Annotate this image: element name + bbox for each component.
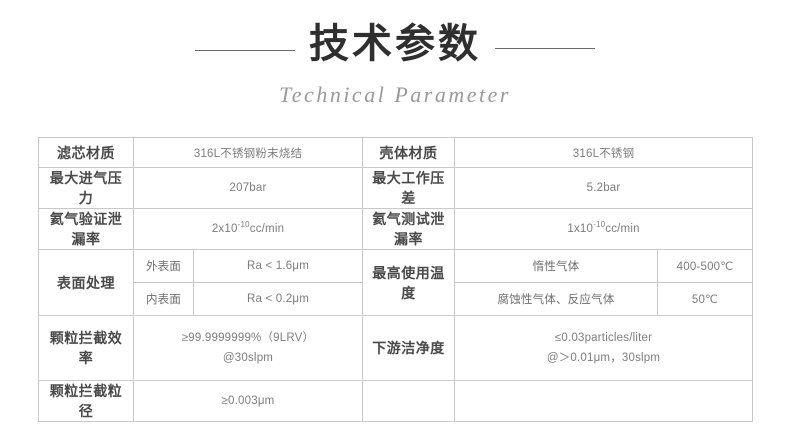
- cleanliness-line-1: ≤0.03particles/liter: [461, 328, 746, 348]
- row-label-helium-verify-leak-rate: 氦气验证泄漏率: [39, 209, 134, 250]
- row-label-max-working-pressure-diff: 最大工作压差: [363, 168, 455, 209]
- leak-rate-unit: cc/min: [605, 223, 639, 235]
- row-label-empty: [363, 381, 455, 422]
- row-value-max-working-pressure-diff: 5.2bar: [455, 168, 753, 209]
- efficiency-line-1: ≥99.9999999%（9LRV）: [140, 328, 356, 348]
- title-rule-left: [195, 50, 295, 51]
- title-rule-right: [495, 48, 595, 49]
- row-label-helium-test-leak-rate: 氦气测试泄漏率: [363, 209, 455, 250]
- surface-inner-name: 内表面: [134, 283, 194, 316]
- surface-outer-value: Ra < 1.6μm: [194, 250, 363, 283]
- table-row: 氦气验证泄漏率 2x10-10cc/min 氦气测试泄漏率 1x10-10cc/…: [39, 209, 753, 250]
- table-row: 颗粒拦截效率 ≥99.9999999%（9LRV） @30slpm 下游洁净度 …: [39, 316, 753, 381]
- table-row: 最大进气压力 207bar 最大工作压差 5.2bar: [39, 168, 753, 209]
- row-value-max-inlet-pressure: 207bar: [134, 168, 363, 209]
- row-value-helium-test-leak-rate: 1x10-10cc/min: [455, 209, 753, 250]
- row-label-max-inlet-pressure: 最大进气压力: [39, 168, 134, 209]
- leak-rate-base: 1x10: [567, 223, 593, 235]
- row-value-particle-retention-efficiency: ≥99.9999999%（9LRV） @30slpm: [134, 316, 363, 381]
- cleanliness-line-2: @＞0.01μm，30slpm: [461, 348, 746, 368]
- temperature-corrosive-gas-name: 腐蚀性气体、反应气体: [455, 283, 658, 316]
- efficiency-line-2: @30slpm: [140, 348, 356, 368]
- table-row: 表面处理 外表面 Ra < 1.6μm 最高使用温度 惰性气体 400-500℃: [39, 250, 753, 283]
- row-label-downstream-cleanliness: 下游洁净度: [363, 316, 455, 381]
- row-label-particle-retention-size: 颗粒拦截粒径: [39, 381, 134, 422]
- title-row: 技术参数: [0, 18, 790, 70]
- row-value-empty: [455, 381, 753, 422]
- table-row: 滤芯材质 316L不锈钢粉末烧结 壳体材质 316L不锈钢: [39, 138, 753, 168]
- row-label-particle-retention-efficiency: 颗粒拦截效率: [39, 316, 134, 381]
- table-row: 颗粒拦截粒径 ≥0.003μm: [39, 381, 753, 422]
- spec-table: 滤芯材质 316L不锈钢粉末烧结 壳体材质 316L不锈钢 最大进气压力 207…: [38, 137, 753, 422]
- row-label-surface-treatment: 表面处理: [39, 250, 134, 316]
- leak-rate-unit: cc/min: [250, 223, 284, 235]
- row-value-housing-material: 316L不锈钢: [455, 138, 753, 168]
- row-label-filter-material: 滤芯材质: [39, 138, 134, 168]
- leak-rate-exponent: -10: [593, 220, 605, 229]
- surface-outer-name: 外表面: [134, 250, 194, 283]
- row-label-max-operating-temperature: 最高使用温度: [363, 250, 455, 316]
- page-subtitle: Technical Parameter: [0, 82, 790, 108]
- leak-rate-exponent: -10: [238, 220, 250, 229]
- row-value-helium-verify-leak-rate: 2x10-10cc/min: [134, 209, 363, 250]
- row-label-housing-material: 壳体材质: [363, 138, 455, 168]
- page-header: 技术参数 Technical Parameter: [0, 0, 790, 108]
- leak-rate-base: 2x10: [212, 223, 238, 235]
- temperature-inert-gas-name: 惰性气体: [455, 250, 658, 283]
- technical-parameter-page: 技术参数 Technical Parameter 滤芯材质 316L不锈钢粉末烧…: [0, 0, 790, 442]
- page-title: 技术参数: [309, 24, 481, 64]
- temperature-inert-gas-value: 400-500℃: [658, 250, 753, 283]
- row-value-particle-retention-size: ≥0.003μm: [134, 381, 363, 422]
- row-value-downstream-cleanliness: ≤0.03particles/liter @＞0.01μm，30slpm: [455, 316, 753, 381]
- surface-inner-value: Ra < 0.2μm: [194, 283, 363, 316]
- row-value-filter-material: 316L不锈钢粉末烧结: [134, 138, 363, 168]
- spec-table-container: 滤芯材质 316L不锈钢粉末烧结 壳体材质 316L不锈钢 最大进气压力 207…: [38, 137, 752, 422]
- temperature-corrosive-gas-value: 50℃: [658, 283, 753, 316]
